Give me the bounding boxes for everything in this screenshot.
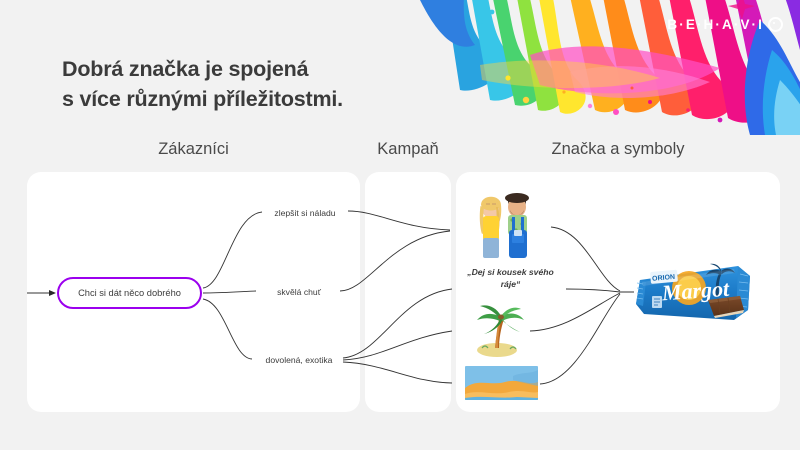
bullseye-o-icon [768,17,783,32]
slide-canvas: B·E·H·A·V·I Dobrá značka je spojená s ví… [0,0,800,450]
column-title-brand-symbols: Značka a symboly [456,140,780,159]
column-title-campaign: Kampaň [360,140,456,159]
behavio-logo: B·E·H·A·V·I [667,17,783,32]
need-label-vacation: dovolená, exotika [266,355,333,365]
campaign-photo-couple [467,186,540,258]
campaign-quote: „Dej si kousek svého ráje“ [458,266,563,291]
logo-wordmark: B·E·H·A·V·I [667,17,764,32]
card-campaign [365,172,451,412]
need-label-taste: skvělá chuť [277,287,321,297]
column-title-customers: Zákazníci [27,140,360,159]
need-label-mood: zlepšit si náladu [274,208,335,218]
page-title: Dobrá značka je spojená s více různými p… [62,55,343,114]
campaign-palm-tree-illustration [468,302,526,358]
product-margot-bar: ORION Margot [634,258,759,328]
root-node-need[interactable]: Chci si dát něco dobrého [57,277,202,309]
campaign-beach-illustration [465,366,538,400]
